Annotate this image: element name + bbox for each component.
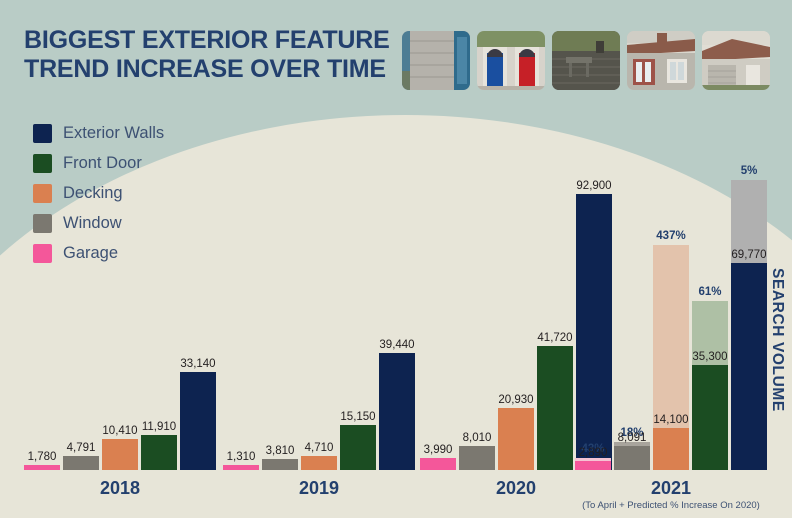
legend-label-exterior-walls: Exterior Walls (63, 124, 164, 143)
bar-value-label: 2,890 (579, 447, 608, 459)
bar-window-2021: 18%8,091 (614, 442, 650, 470)
bar-decking-2019: 4,710 (301, 456, 337, 470)
bar-value-label: 1,310 (227, 451, 256, 463)
legend-label-front-door: Front Door (63, 154, 142, 173)
legend-item-window: Window (33, 208, 164, 238)
bar-segment-actual (614, 446, 650, 470)
bar-garage-2019: 1,310 (223, 465, 259, 470)
bars-2019: 1,3103,8104,71015,15039,440 (223, 353, 415, 470)
legend-item-front-door: Front Door (33, 148, 164, 178)
bar-decking-2020: 20,930 (498, 408, 534, 470)
bar-segment-actual (575, 461, 611, 470)
legend-item-decking: Decking (33, 178, 164, 208)
photo-strip (402, 31, 770, 90)
y-axis-title: SEARCH VOLUME (768, 268, 786, 412)
legend: Exterior Walls Front Door Decking Window… (33, 118, 164, 268)
bar-segment-actual (102, 439, 138, 470)
bar-segment-actual (692, 365, 728, 470)
bar-segment-actual (420, 458, 456, 470)
garage-photo (702, 31, 770, 90)
title-line-2: TREND INCREASE OVER TIME (24, 55, 404, 84)
front-door-photo (477, 31, 545, 90)
bar-window-2018: 4,791 (63, 456, 99, 470)
bar-value-label: 69,770 (731, 249, 766, 261)
bar-decking-2018: 10,410 (102, 439, 138, 470)
bar-value-label: 8,091 (618, 432, 647, 444)
legend-item-garage: Garage (33, 238, 164, 268)
bar-exterior-walls-2018: 33,140 (180, 372, 216, 470)
legend-swatch-exterior-walls (33, 124, 52, 143)
window-photo (627, 31, 695, 90)
bar-value-label: 14,100 (653, 414, 688, 426)
x-axis-label-2021: 2021 (575, 478, 767, 499)
infographic-canvas: BIGGEST EXTERIOR FEATURE TREND INCREASE … (0, 0, 792, 518)
bar-segment-actual (262, 459, 298, 470)
bar-window-2019: 3,810 (262, 459, 298, 470)
bar-exterior-walls-2019: 39,440 (379, 353, 415, 470)
bar-segment-actual (340, 425, 376, 470)
bar-front-door-2019: 15,150 (340, 425, 376, 470)
predicted-percent-label: 437% (656, 230, 685, 242)
bar-value-label: 35,300 (692, 351, 727, 363)
bar-value-label: 20,930 (498, 394, 533, 406)
bar-value-label: 33,140 (180, 358, 215, 370)
legend-swatch-window (33, 214, 52, 233)
bar-segment-actual (301, 456, 337, 470)
bar-segment-actual (731, 263, 767, 470)
legend-label-decking: Decking (63, 184, 123, 203)
bar-segment-actual (537, 346, 573, 470)
bar-exterior-walls-2021: 5%69,770 (731, 180, 767, 470)
legend-swatch-decking (33, 184, 52, 203)
bar-value-label: 3,810 (266, 445, 295, 457)
bar-value-label: 10,410 (102, 425, 137, 437)
bar-decking-2021: 437%14,100 (653, 245, 689, 470)
bar-front-door-2021: 61%35,300 (692, 301, 728, 470)
predicted-percent-label: 61% (698, 286, 721, 298)
x-axis-label-2019: 2019 (223, 478, 415, 499)
bar-front-door-2018: 11,910 (141, 435, 177, 470)
legend-swatch-front-door (33, 154, 52, 173)
bars-2018: 1,7804,79110,41011,91033,140 (24, 372, 216, 470)
bar-value-label: 11,910 (142, 421, 176, 433)
bar-garage-2018: 1,780 (24, 465, 60, 470)
bar-segment-actual (24, 465, 60, 470)
bar-value-label: 4,710 (305, 442, 334, 454)
bar-segment-actual (180, 372, 216, 470)
legend-swatch-garage (33, 244, 52, 263)
title-line-1: BIGGEST EXTERIOR FEATURE (24, 26, 390, 54)
exterior-wall-photo (402, 31, 470, 90)
decking-photo (552, 31, 620, 90)
bar-segment-actual (223, 465, 259, 470)
bar-segment-actual (459, 446, 495, 470)
bar-segment-actual (141, 435, 177, 470)
bar-garage-2021: 43%2,890 (575, 458, 611, 470)
bars-2021: 43%2,89018%8,091437%14,10061%35,3005%69,… (575, 180, 767, 470)
bar-group-2019: 1,3103,8104,71015,15039,4402019 (223, 353, 415, 470)
bar-value-label: 41,720 (537, 332, 572, 344)
bar-segment-predicted (653, 245, 689, 428)
legend-label-garage: Garage (63, 244, 118, 263)
bar-segment-actual (63, 456, 99, 470)
legend-label-window: Window (63, 214, 122, 233)
bar-value-label: 3,990 (424, 444, 453, 456)
bar-segment-actual (653, 428, 689, 470)
x-axis-label-2018: 2018 (24, 478, 216, 499)
bar-value-label: 8,010 (463, 432, 492, 444)
bar-value-label: 4,791 (67, 442, 96, 454)
bar-value-label: 15,150 (340, 411, 375, 423)
bar-garage-2020: 3,990 (420, 458, 456, 470)
bar-window-2020: 8,010 (459, 446, 495, 470)
bar-group-2021: 43%2,89018%8,091437%14,10061%35,3005%69,… (575, 180, 767, 470)
bar-group-2018: 1,7804,79110,41011,91033,1402018 (24, 372, 216, 470)
bar-segment-actual (498, 408, 534, 470)
bar-segment-actual (379, 353, 415, 470)
bar-value-label: 39,440 (379, 339, 414, 351)
legend-item-exterior-walls: Exterior Walls (33, 118, 164, 148)
predicted-percent-label: 5% (741, 165, 758, 177)
bar-front-door-2020: 41,720 (537, 346, 573, 470)
x-axis-note-2021: (To April + Predicted % Increase On 2020… (582, 500, 760, 511)
page-title: BIGGEST EXTERIOR FEATURE TREND INCREASE … (24, 26, 404, 84)
bar-value-label: 1,780 (28, 451, 57, 463)
